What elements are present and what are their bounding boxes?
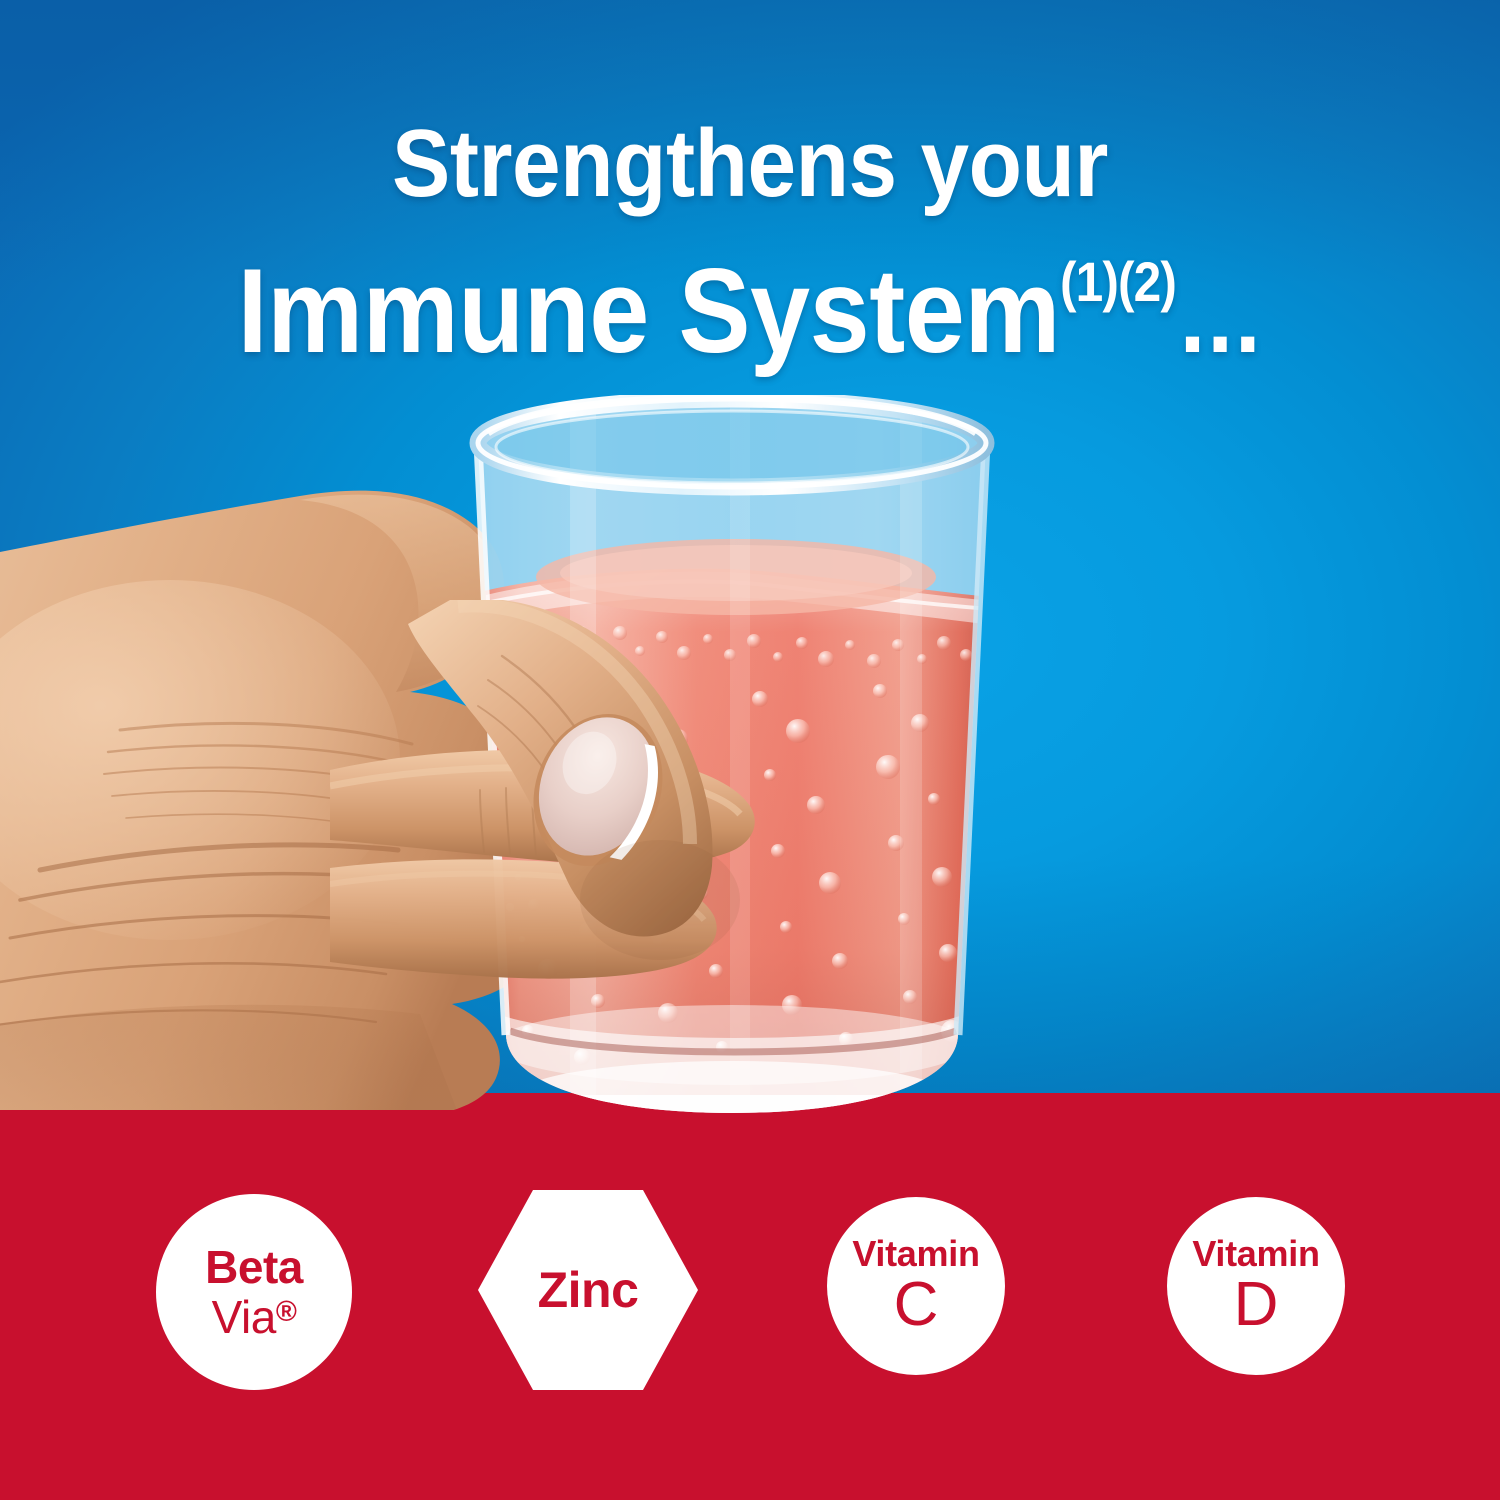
badge-vitamin-c-letter: C — [894, 1274, 939, 1336]
badge-vitamin-d-line1: Vitamin — [1192, 1236, 1319, 1272]
ingredient-badges-row: Beta Via® Zinc Vitamin C Vitamin D — [0, 1093, 1500, 1500]
badge-vitamin-c-line1: Vitamin — [852, 1236, 979, 1272]
badge-zinc[interactable]: Zinc — [478, 1190, 698, 1390]
badge-beta-via-line2-text: Via — [212, 1291, 276, 1343]
product-marketing-image: Strengthens your Immune System(1)(2)... — [0, 0, 1500, 1500]
fingers-and-thumb-illustration — [330, 600, 1090, 1120]
registered-trademark-icon: ® — [276, 1296, 297, 1328]
badge-beta-via-line1: Beta — [205, 1244, 303, 1290]
badge-vitamin-d[interactable]: Vitamin D — [1167, 1197, 1345, 1375]
badge-vitamin-d-letter: D — [1234, 1274, 1279, 1336]
badge-beta-via[interactable]: Beta Via® — [156, 1194, 352, 1390]
badge-beta-via-line2: Via® — [212, 1294, 297, 1340]
badge-zinc-label: Zinc — [538, 1265, 639, 1315]
thumb-cast-shadow — [580, 840, 740, 960]
badge-vitamin-c[interactable]: Vitamin C — [827, 1197, 1005, 1375]
hand-front-layer — [330, 600, 1090, 1120]
